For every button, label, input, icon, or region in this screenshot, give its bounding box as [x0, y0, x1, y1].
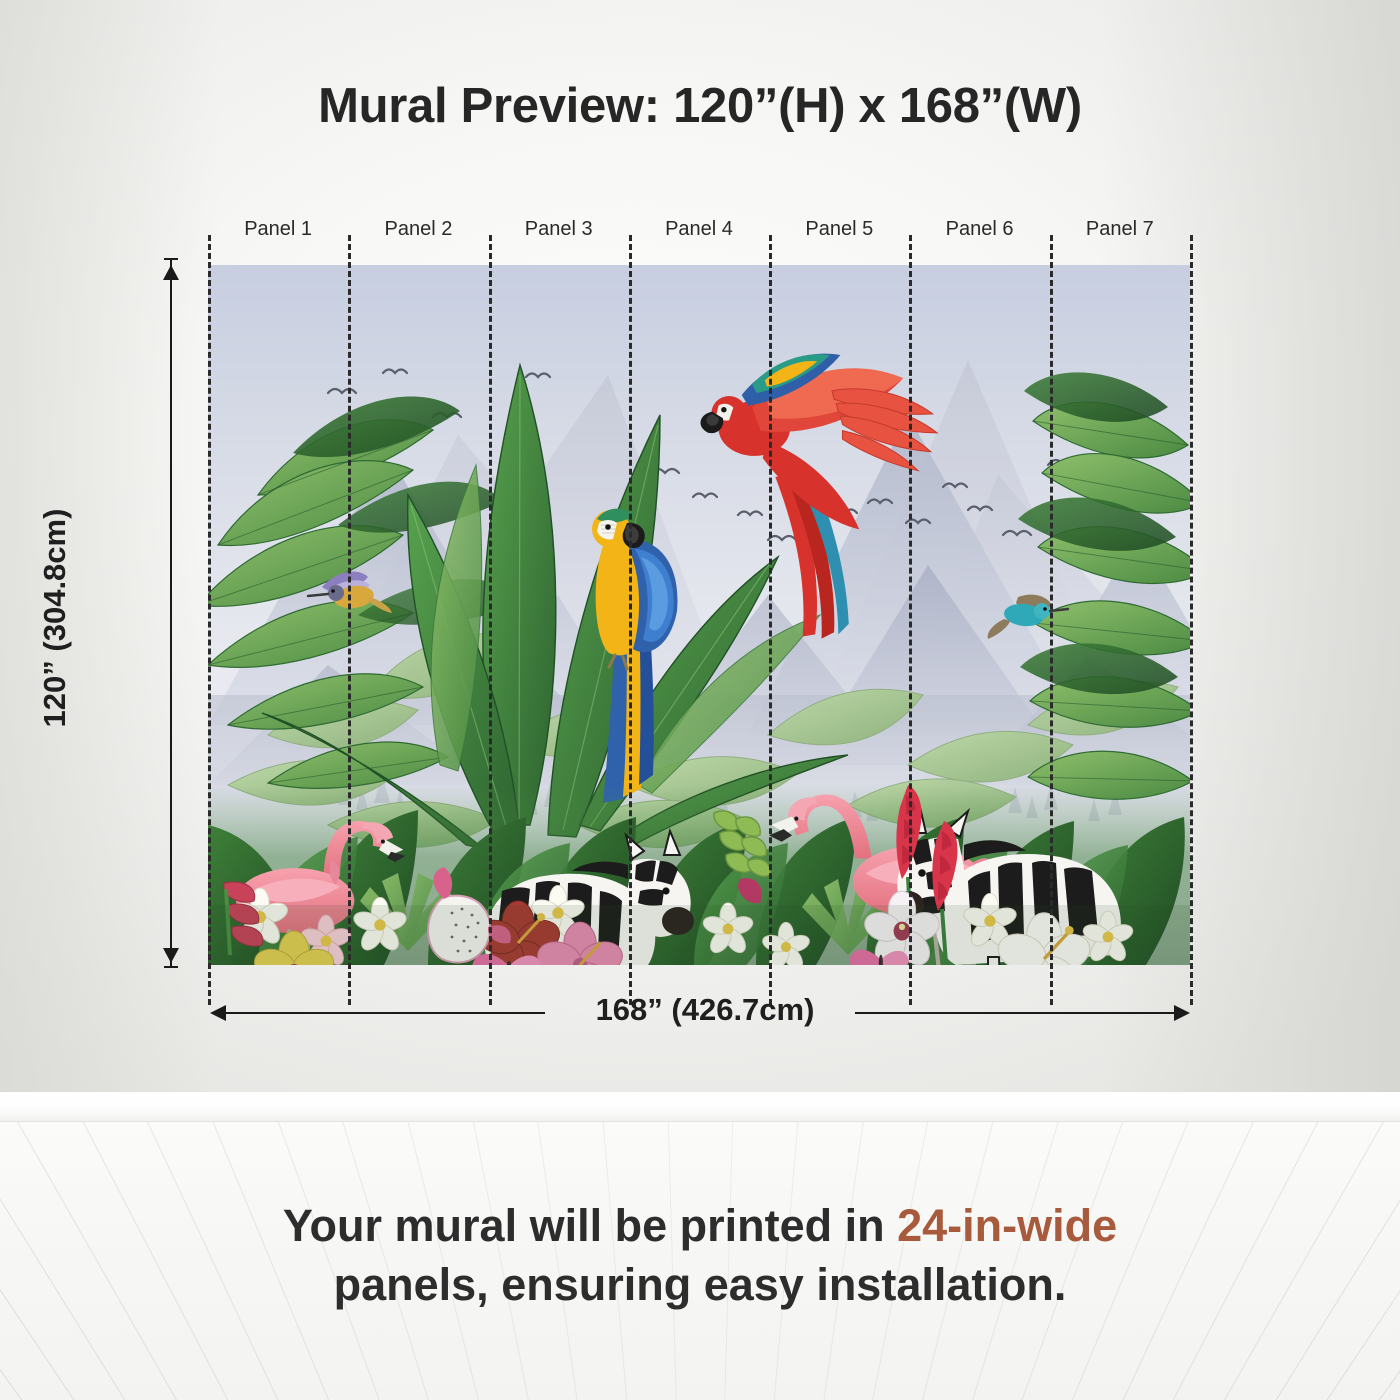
mural-preview-image [208, 265, 1190, 965]
baseboard [0, 1092, 1400, 1122]
panel-label-6: Panel 6 [910, 218, 1050, 241]
width-dimension-line-right [855, 1012, 1175, 1014]
panel-divider-line [909, 235, 912, 1005]
panel-divider-line [769, 235, 772, 1005]
width-arrow-right-icon [1174, 1005, 1190, 1021]
height-arrow-down-icon [163, 948, 179, 963]
caption-line-2: panels, ensuring easy installation. [0, 1255, 1400, 1314]
panel-divider-line [1050, 235, 1053, 1005]
caption-accent-text: 24-in-wide [897, 1200, 1117, 1251]
installation-caption: Your mural will be printed in 24-in-wide… [0, 1196, 1400, 1315]
caption-line-1: Your mural will be printed in 24-in-wide [0, 1196, 1400, 1255]
panel-label-5: Panel 5 [769, 218, 909, 241]
panel-divider-line [1190, 235, 1193, 1005]
panel-label-3: Panel 3 [489, 218, 629, 241]
height-dimension-line [170, 258, 172, 968]
foliage-animals-layer [208, 265, 1190, 965]
caption-line-1-text: Your mural will be printed in [283, 1200, 897, 1251]
panel-divider-line [208, 235, 211, 1005]
panel-label-7: Panel 7 [1050, 218, 1190, 241]
width-arrow-left-icon [210, 1005, 226, 1021]
page-title: Mural Preview: 120”(H) x 168”(W) [0, 78, 1400, 134]
wall-shading-left [0, 0, 220, 1092]
panel-label-2: Panel 2 [348, 218, 488, 241]
width-dimension-label: 168” (426.7cm) [545, 992, 865, 1028]
panel-divider-line [348, 235, 351, 1005]
width-dimension-line-left [225, 1012, 545, 1014]
panel-label-4: Panel 4 [629, 218, 769, 241]
height-dimension-label: 120” (304.8cm) [37, 468, 73, 768]
panel-divider-line [489, 235, 492, 1005]
height-arrow-up-icon [163, 265, 179, 280]
panel-label-1: Panel 1 [208, 218, 348, 241]
panel-divider-line [629, 235, 632, 1005]
